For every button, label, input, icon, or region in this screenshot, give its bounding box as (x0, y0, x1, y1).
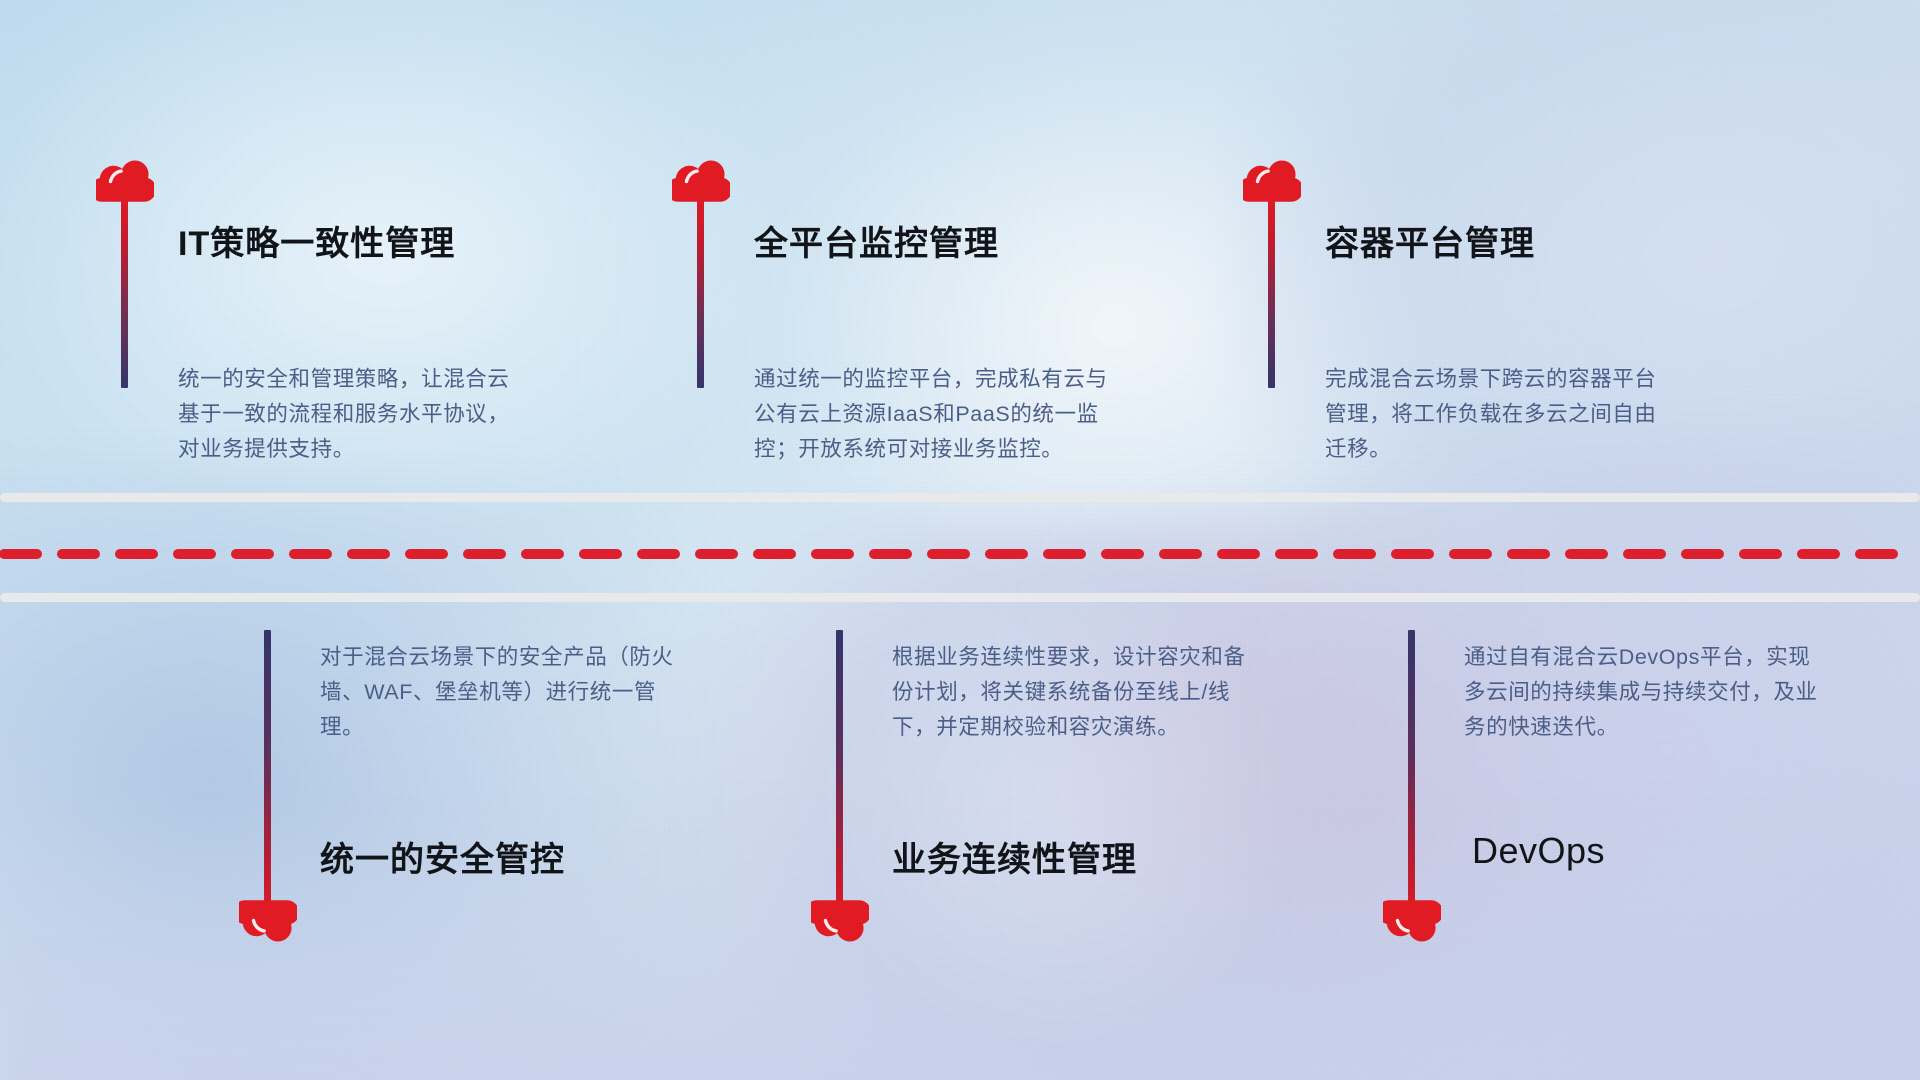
column-body-text: 通过统一的监控平台，完成私有云与公有云上资源IaaS和PaaS的统一监控；开放系… (754, 362, 1114, 467)
column-heading: 统一的安全管控 (320, 832, 565, 881)
column-heading: 容器平台管理 (1325, 216, 1535, 265)
column-body-text: 对于混合云场景下的安全产品（防火墙、WAF、堡垒机等）进行统一管理。 (320, 640, 680, 745)
divider-rule-top (0, 493, 1920, 502)
column-body-text: 通过自有混合云DevOps平台，实现多云间的持续集成与持续交付，及业务的快速迭代… (1464, 640, 1824, 745)
divider-rule-bottom (0, 593, 1920, 602)
column-heading: 业务连续性管理 (892, 832, 1137, 881)
column-heading: IT策略一致性管理 (178, 216, 455, 265)
connector-line (121, 196, 128, 388)
cloud-icon (811, 898, 869, 942)
column-body-text: 统一的安全和管理策略，让混合云基于一致的流程和服务水平协议，对业务提供支持。 (178, 362, 528, 467)
connector-line (264, 630, 271, 920)
divider-dashed-line (0, 549, 1920, 559)
connector-line (697, 196, 704, 388)
cloud-icon (1383, 898, 1441, 942)
cloud-icon (239, 898, 297, 942)
column-heading: 全平台监控管理 (754, 216, 999, 265)
connector-line (1268, 196, 1275, 388)
connector-line (836, 630, 843, 920)
column-heading: DevOps (1472, 830, 1605, 872)
connector-line (1408, 630, 1415, 920)
column-body-text: 根据业务连续性要求，设计容灾和备份计划，将关键系统备份至线上/线下，并定期校验和… (892, 640, 1252, 745)
column-body-text: 完成混合云场景下跨云的容器平台管理，将工作负载在多云之间自由迁移。 (1325, 362, 1675, 467)
